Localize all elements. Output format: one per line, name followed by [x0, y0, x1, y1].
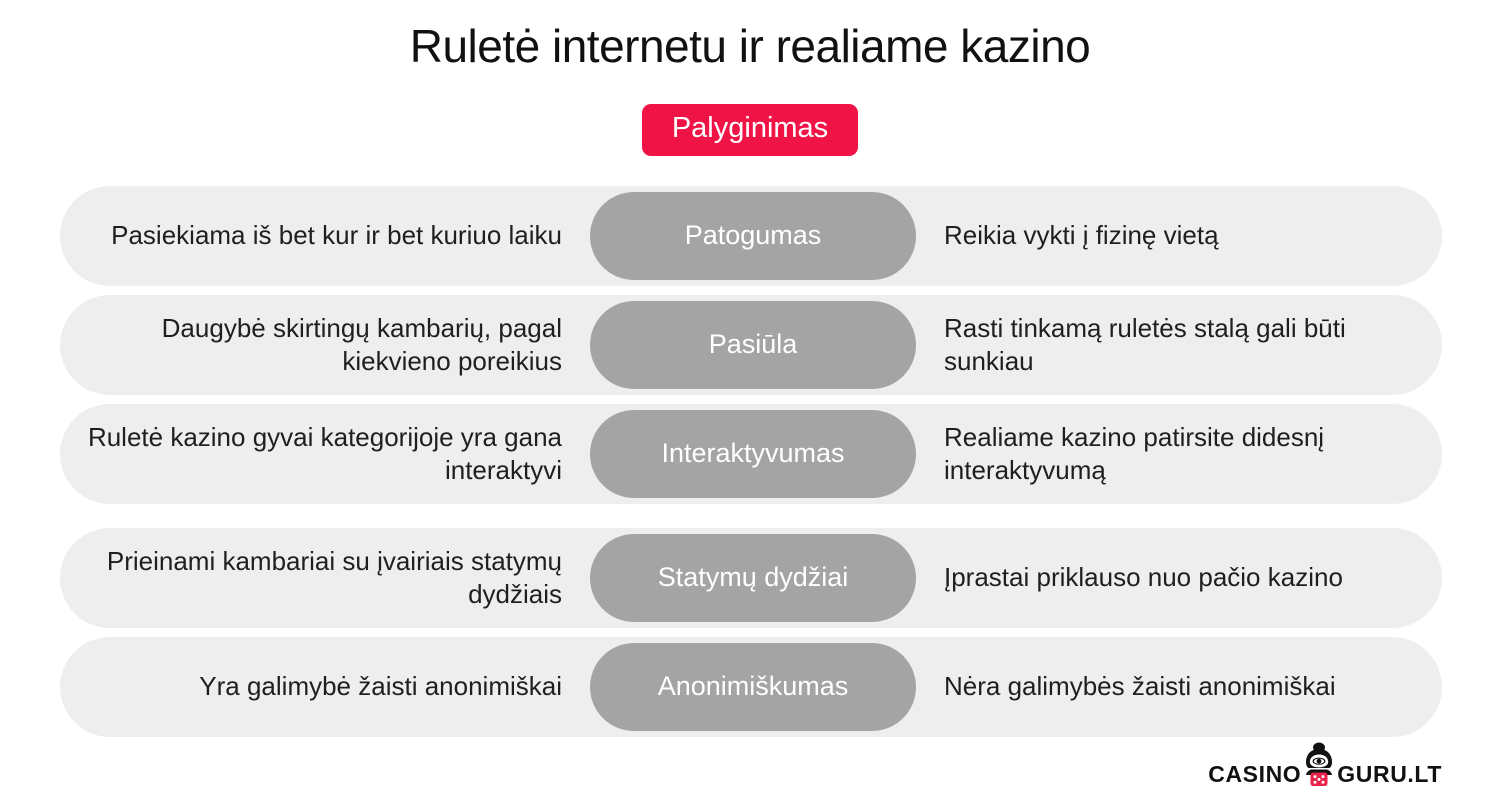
comparison-row: Prieinami kambariai su įvairiais statymų…: [60, 528, 1442, 628]
comparison-badge: Palyginimas: [642, 104, 858, 156]
row-left-text: Yra galimybė žaisti anonimiškai: [60, 670, 590, 703]
comparison-row: Ruletė kazino gyvai kategorijoje yra gan…: [60, 404, 1442, 504]
row-category-pill: Pasiūla: [590, 301, 916, 389]
row-right-text: Nėra galimybės žaisti anonimiškai: [916, 670, 1442, 703]
comparison-row: Pasiekiama iš bet kur ir bet kuriuo laik…: [60, 186, 1442, 286]
comparison-row: Yra galimybė žaisti anonimiškai Anonimiš…: [60, 637, 1442, 737]
row-left-text: Ruletė kazino gyvai kategorijoje yra gan…: [60, 421, 590, 488]
badge-container: Palyginimas: [0, 104, 1500, 156]
row-right-text: Reikia vykti į fizinę vietą: [916, 219, 1442, 252]
row-left-text: Pasiekiama iš bet kur ir bet kuriuo laik…: [60, 219, 590, 252]
row-category-pill: Statymų dydžiai: [590, 534, 916, 622]
row-left-text: Prieinami kambariai su įvairiais statymų…: [60, 545, 590, 612]
page-title: Ruletė internetu ir realiame kazino: [0, 20, 1500, 73]
row-category-pill: Patogumas: [590, 192, 916, 280]
row-right-text: Įprastai priklauso nuo pačio kazino: [916, 561, 1442, 594]
comparison-row: Daugybė skirtingų kambarių, pagal kiekvi…: [60, 295, 1442, 395]
row-category-pill: Interaktyvumas: [590, 410, 916, 498]
row-right-text: Rasti tinkamą ruletės stalą gali būti su…: [916, 312, 1442, 379]
logo-text-after: GURU.LT: [1337, 763, 1442, 786]
logo-text-before: CASINO: [1208, 763, 1301, 786]
casino-guru-mascot-icon: [1302, 741, 1336, 787]
row-category-pill: Anonimiškumas: [590, 643, 916, 731]
row-right-text: Realiame kazino patirsite didesnį intera…: [916, 421, 1442, 488]
row-left-text: Daugybė skirtingų kambarių, pagal kiekvi…: [60, 312, 590, 379]
casino-guru-logo: CASINO GURU.LT: [1208, 730, 1442, 786]
comparison-table: Pasiekiama iš bet kur ir bet kuriuo laik…: [60, 186, 1442, 746]
